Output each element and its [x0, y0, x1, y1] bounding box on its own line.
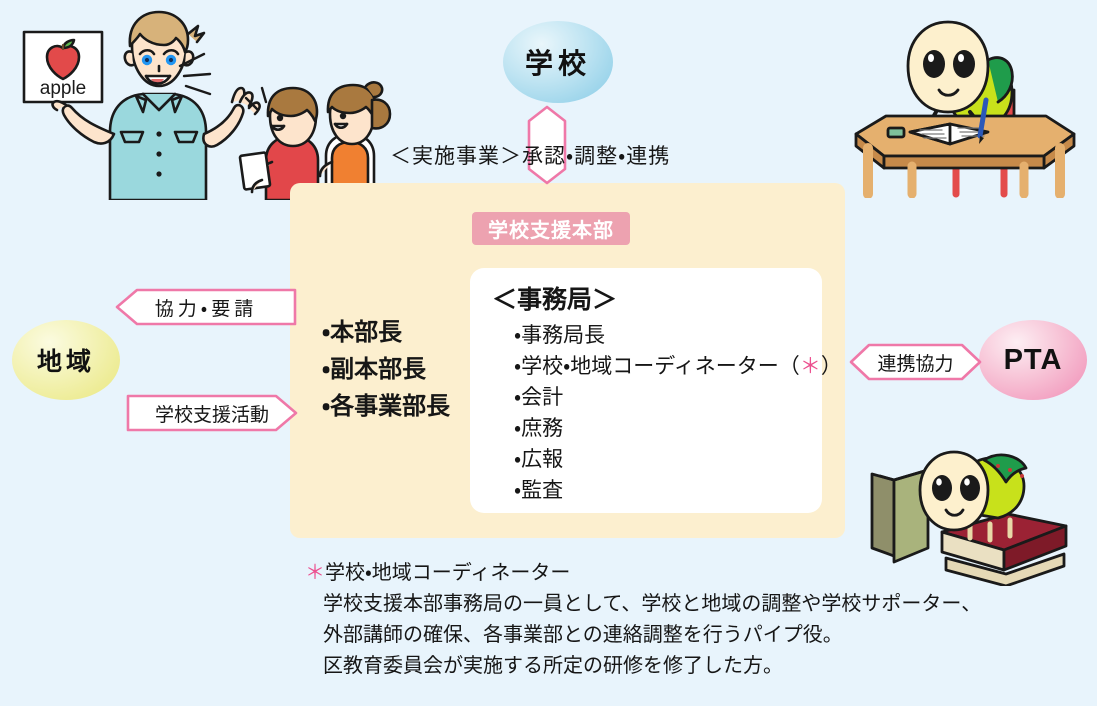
list-item: ・広報 [514, 444, 842, 475]
teacher-with-apple-flashcard-illustration: apple [4, 4, 394, 200]
connector-cooperation-request-label: 協力・要請 [155, 294, 257, 321]
list-item: ・副本部長 [322, 351, 450, 388]
connector-cooperation-request: 協力・要請 [115, 288, 297, 326]
footnote-heading-text: 学校・地域コーディネーター [325, 562, 570, 584]
secretariat-box: ＜事務局＞ ・事務局長 ・学校・地域コーディネーター（＊） ・会計 ・庶務 ・広… [470, 268, 822, 513]
list-item: ・事務局長 [514, 320, 842, 351]
footnote-line: 外部講師の確保、各事業部との連絡調整を行うパイプ役。 [305, 620, 1065, 651]
node-pta: PTA [979, 320, 1087, 400]
connector-school-support-activity: 学校支援活動 [126, 394, 298, 432]
connector-school-support-activity-label: 学校支援活動 [155, 400, 269, 427]
connector-pta-collaboration: 連携協力 [849, 343, 982, 381]
footnote-line: 区教育委員会が実施する所定の研修を修了した方。 [305, 651, 1065, 682]
node-school: 学校 [503, 21, 613, 103]
svg-text:apple: apple [40, 78, 87, 99]
footnote-star: ＊ [305, 562, 325, 584]
connector-pta-collaboration-label: 連携協力 [877, 349, 953, 376]
implementation-projects-caption: ＜実施事業＞承認・調整・連携 [390, 140, 670, 170]
list-item: ・本部長 [322, 314, 450, 351]
list-item: ・学校・地域コーディネーター（＊） [514, 351, 842, 382]
list-item: ・会計 [514, 382, 842, 413]
secretariat-role-list: ・事務局長 ・学校・地域コーディネーター（＊） ・会計 ・庶務 ・広報 ・監査 [514, 320, 842, 506]
footnote-block: ＊学校・地域コーディネーター 学校支援本部事務局の一員として、学校と地域の調整や… [305, 558, 1065, 682]
footnote-line: 学校支援本部事務局の一員として、学校と地域の調整や学校サポーター、 [305, 589, 1065, 620]
secretariat-title: ＜事務局＞ [492, 280, 617, 316]
mascot-studying-at-desk-illustration [838, 8, 1090, 198]
node-community: 地域 [12, 320, 120, 400]
list-item: ・監査 [514, 475, 842, 506]
node-pta-label: PTA [1004, 344, 1063, 377]
footnote-heading: ＊学校・地域コーディネーター [305, 558, 1065, 589]
hq-badge: 学校支援本部 [472, 212, 630, 245]
list-item: ・各事業部長 [322, 388, 450, 425]
diagram-canvas: apple [0, 0, 1097, 706]
node-school-label: 学校 [525, 42, 591, 82]
list-item: ・庶務 [514, 413, 842, 444]
hq-officer-list: ・本部長 ・副本部長 ・各事業部長 [322, 314, 450, 425]
hq-badge-label: 学校支援本部 [488, 214, 614, 243]
node-community-label: 地域 [37, 342, 95, 378]
